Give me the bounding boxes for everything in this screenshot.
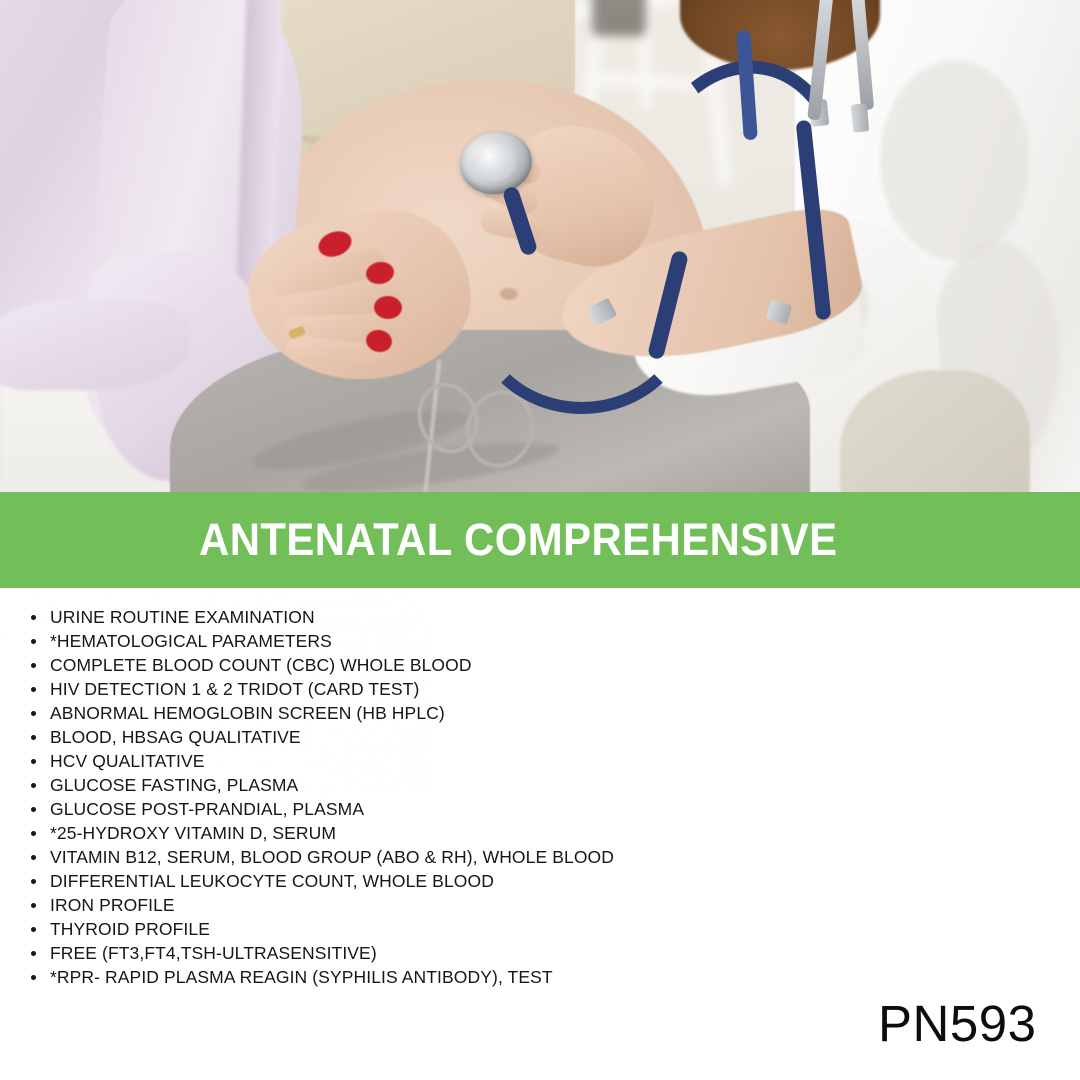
- list-item: GLUCOSE FASTING, PLASMA: [31, 773, 931, 797]
- hero-photo: [0, 0, 1080, 492]
- list-item: HCV QUALITATIVE: [31, 749, 931, 773]
- test-list: URINE ROUTINE EXAMINATION *HEMATOLOGICAL…: [31, 605, 931, 989]
- title-banner: ANTENATAL COMPREHENSIVE: [0, 492, 1080, 588]
- stool-wheel: [592, 0, 646, 36]
- coat-fold: [880, 60, 1030, 260]
- list-item: *25-HYDROXY VITAMIN D, SERUM: [31, 821, 931, 845]
- list-item: COMPLETE BLOOD COUNT (CBC) WHOLE BLOOD: [31, 653, 931, 677]
- list-item: GLUCOSE POST-PRANDIAL, PLASMA: [31, 797, 931, 821]
- list-item: IRON PROFILE: [31, 893, 931, 917]
- list-item: URINE ROUTINE EXAMINATION: [31, 605, 931, 629]
- list-item: *HEMATOLOGICAL PARAMETERS: [31, 629, 931, 653]
- list-item: DIFFERENTIAL LEUKOCYTE COUNT, WHOLE BLOO…: [31, 869, 931, 893]
- product-code: PN593: [878, 994, 1036, 1053]
- stethoscope-clip: [851, 103, 869, 132]
- list-item: HIV DETECTION 1 & 2 TRIDOT (CARD TEST): [31, 677, 931, 701]
- package-poster: ANTENATAL COMPREHENSIVE URINE ROUTINE EX…: [0, 0, 1080, 1080]
- page-title: ANTENATAL COMPREHENSIVE: [199, 514, 837, 566]
- list-item: VITAMIN B12, SERUM, BLOOD GROUP (ABO & R…: [31, 845, 931, 869]
- list-item: ABNORMAL HEMOGLOBIN SCREEN (HB HPLC): [31, 701, 931, 725]
- list-item: THYROID PROFILE: [31, 917, 931, 941]
- list-item: *RPR- RAPID PLASMA REAGIN (SYPHILIS ANTI…: [31, 965, 931, 989]
- list-item: BLOOD, HBSAG QUALITATIVE: [31, 725, 931, 749]
- list-item: FREE (FT3,FT4,TSH-ULTRASENSITIVE): [31, 941, 931, 965]
